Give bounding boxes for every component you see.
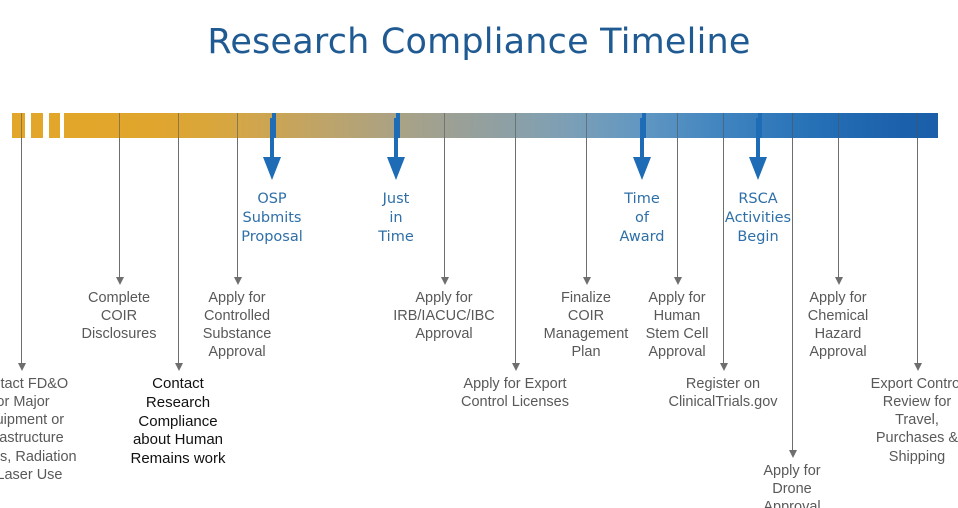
connector-arrowhead-export-control-review [914,363,922,371]
task-label-line: Approval [592,343,762,361]
task-label-line: Human [592,307,762,325]
task-label-line: Research [93,394,263,413]
milestone-label-line: Award [577,228,707,247]
task-label-line: Stem Cell [592,325,762,343]
task-label-line: Compliance [93,413,263,432]
bar-tick-chemical-hazard [838,113,839,138]
milestone-label-1: JustinTime [331,190,461,247]
connector-arrowhead-irb-iacuc-ibc [441,277,449,285]
milestone-label-line: Time [331,228,461,247]
connector-arrowhead-complete-coir-disclosures [116,277,124,285]
connector-arrowhead-contact-fdo [18,363,26,371]
milestone-arrow-stem-3 [756,118,760,158]
bar-tick-human-stem-cell [677,113,678,138]
task-label-line: Approval [753,343,923,361]
task-label-line: Contact FD&O [0,375,106,393]
milestone-label-line: Begin [693,228,823,247]
task-label-line: Drone [707,480,877,498]
task-label-line: Export Control [832,375,958,393]
bar-tick-finalize-coir-plan [586,113,587,138]
task-label-line: ClinicalTrials.gov [638,393,808,411]
task-label-export-control-review: Export ControlReview forTravel,Purchases… [832,375,958,466]
milestone-label-2: TimeofAward [577,190,707,247]
bar-tick-contact-fdo [21,113,22,138]
connector-arrowhead-finalize-coir-plan [583,277,591,285]
task-label-line: Contact [93,375,263,394]
task-label-line: Review for [832,393,958,411]
connector-arrowhead-export-control-licenses [512,363,520,371]
task-label-register-clinicaltrials: Register onClinicalTrials.gov [638,375,808,411]
bar-tick-export-control-licenses [515,113,516,138]
task-label-line: Approval [707,498,877,508]
timeline-infographic: Research Compliance Timeline OSPSubmitsP… [0,0,958,508]
milestone-arrow-head-2 [633,157,651,180]
milestone-label-line: Submits [207,209,337,228]
task-label-human-stem-cell: Apply forHumanStem CellApproval [592,289,762,362]
task-label-line: for Major [0,393,106,411]
bar-tick-contact-research-compliance-human-remains [178,113,179,138]
task-label-line: Apply for Export [430,375,600,393]
task-label-line: Register on [638,375,808,393]
bar-tick-irb-iacuc-ibc [444,113,445,138]
milestone-label-line: Proposal [207,228,337,247]
milestone-label-line: OSP [207,190,337,209]
milestone-label-line: Just [331,190,461,209]
milestone-label-3: RSCAActivitiesBegin [693,190,823,247]
milestone-arrow-head-3 [749,157,767,180]
task-label-line: Apply for [753,289,923,307]
task-label-chemical-hazard: Apply forChemicalHazardApproval [753,289,923,362]
task-label-drone-approval: Apply forDroneApproval [707,462,877,508]
lead-segment-2 [31,113,43,138]
task-label-line: about Human [93,431,263,450]
milestone-arrow-stem-2 [640,118,644,158]
bar-tick-register-clinicaltrials [723,113,724,138]
milestone-label-line: RSCA [693,190,823,209]
connector-arrowhead-contact-research-compliance-human-remains [175,363,183,371]
connector-arrowhead-drone-approval [789,450,797,458]
timeline-gradient-bar [0,113,958,138]
connector-arrowhead-chemical-hazard [835,277,843,285]
milestone-arrow-head-1 [387,157,405,180]
bar-tick-drone-approval [792,113,793,138]
milestone-arrow-stem-0 [270,118,274,158]
task-label-line: Needs, Radiation [0,448,106,466]
lead-segment-3 [49,113,60,138]
task-label-controlled-substance: Apply forControlledSubstanceApproval [152,289,322,362]
connector-chemical-hazard [838,138,839,277]
milestone-label-line: Activities [693,209,823,228]
task-label-line: Apply for [592,289,762,307]
timeline-bar-body [64,113,938,138]
task-label-line: Travel, [832,411,958,429]
task-label-line: Hazard [753,325,923,343]
connector-complete-coir-disclosures [119,138,120,277]
task-label-contact-fdo: Contact FD&Ofor MajorEquipment orInfrast… [0,375,106,484]
milestone-label-line: Time [577,190,707,209]
task-label-line: Infrastructure [0,429,106,447]
task-label-line: Shipping [832,448,958,466]
milestone-label-0: OSPSubmitsProposal [207,190,337,247]
connector-arrowhead-register-clinicaltrials [720,363,728,371]
milestone-arrow-head-0 [263,157,281,180]
task-label-line: Substance [152,325,322,343]
task-label-line: or Laser Use [0,466,106,484]
task-label-line: Chemical [753,307,923,325]
task-label-line: Purchases & [832,429,958,447]
connector-arrowhead-controlled-substance [234,277,242,285]
connector-contact-fdo [21,138,22,363]
task-label-line: Control Licenses [430,393,600,411]
page-title: Research Compliance Timeline [0,22,958,62]
task-label-line: Approval [152,343,322,361]
connector-arrowhead-human-stem-cell [674,277,682,285]
task-label-export-control-licenses: Apply for ExportControl Licenses [430,375,600,411]
bar-tick-complete-coir-disclosures [119,113,120,138]
milestone-label-line: of [577,209,707,228]
bar-tick-export-control-review [917,113,918,138]
task-label-line: Controlled [152,307,322,325]
milestone-label-line: in [331,209,461,228]
task-label-contact-research-compliance-human-remains: ContactResearchComplianceabout HumanRema… [93,375,263,469]
task-label-line: Remains work [93,450,263,469]
milestone-arrow-stem-1 [394,118,398,158]
task-label-line: Equipment or [0,411,106,429]
task-label-line: Apply for [152,289,322,307]
bar-tick-controlled-substance [237,113,238,138]
lead-segment-1 [12,113,25,138]
